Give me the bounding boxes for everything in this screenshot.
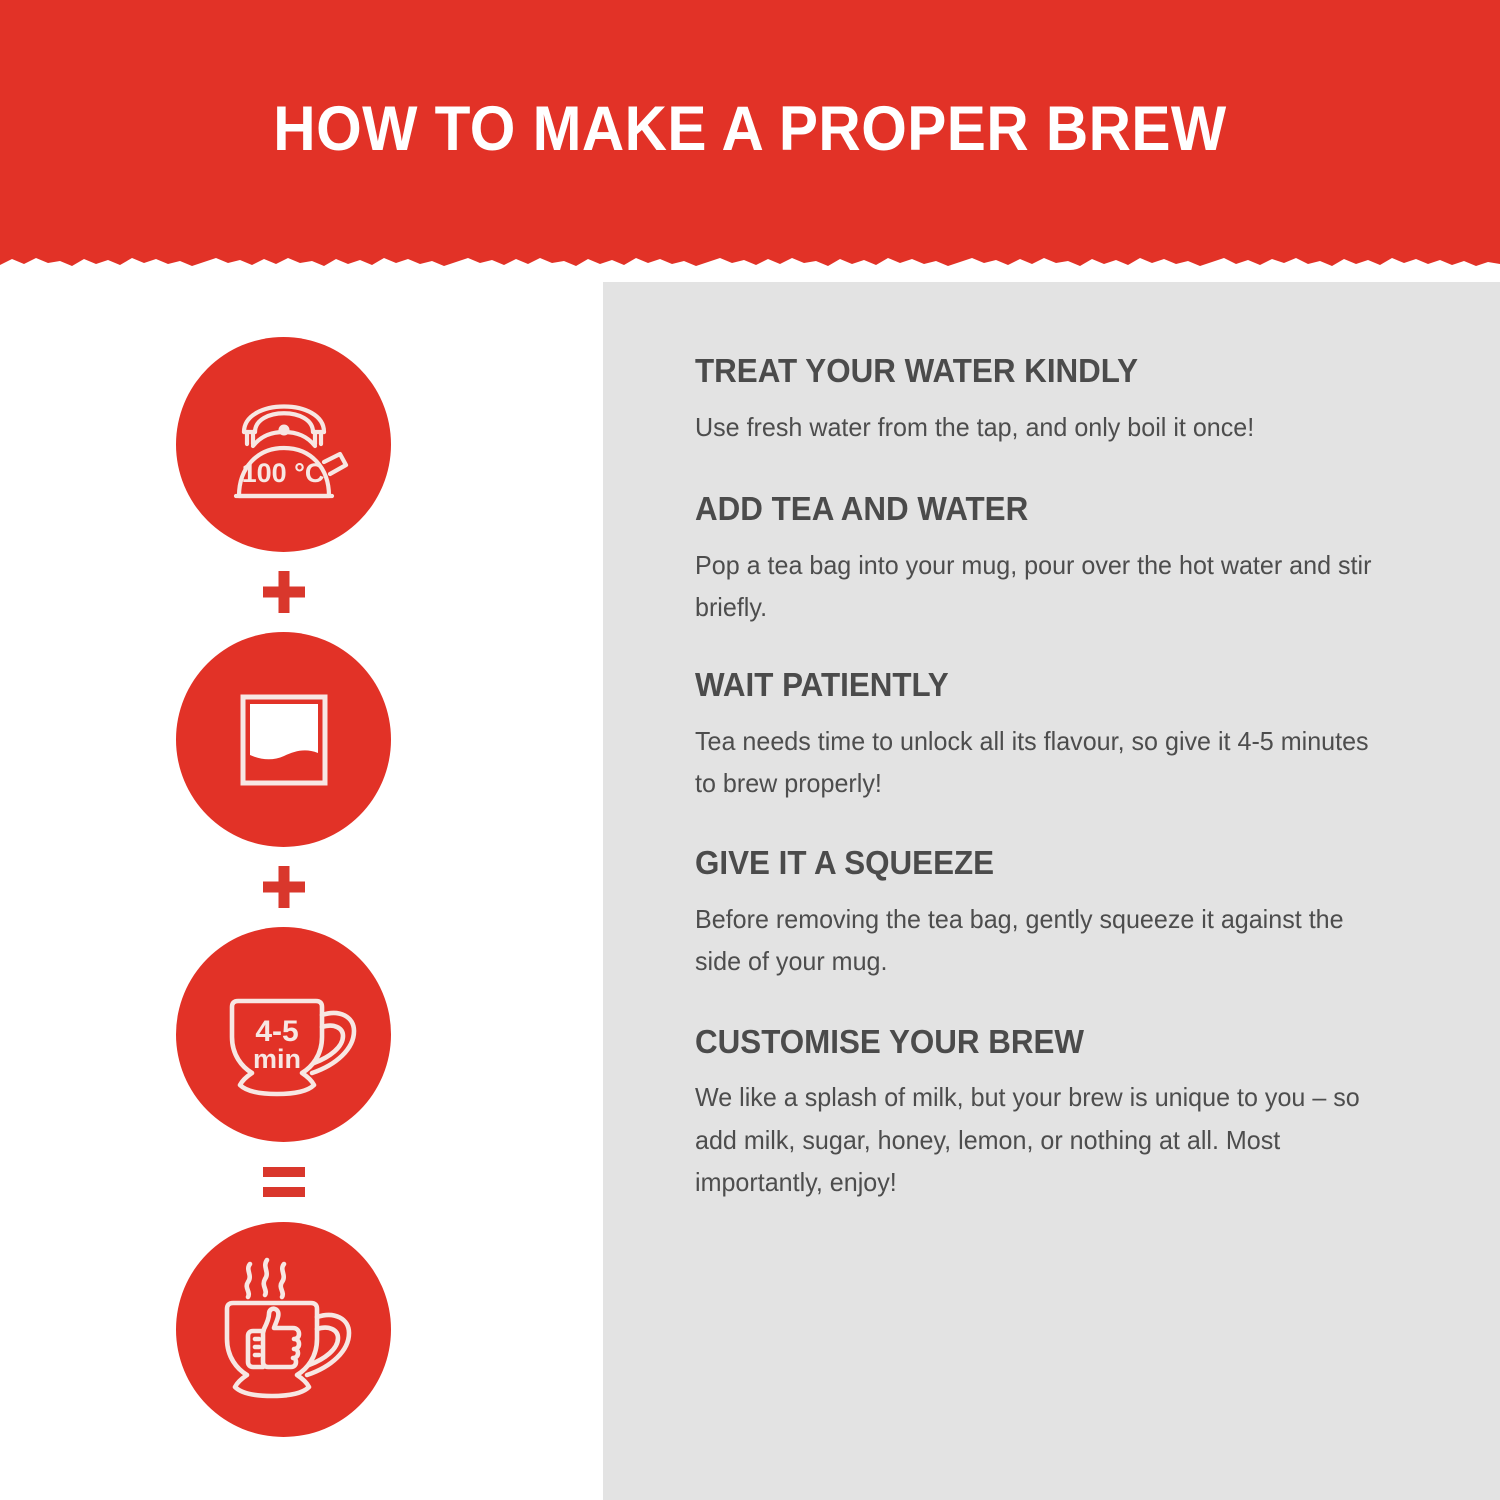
equals-icon [260, 1165, 308, 1199]
icon-circle-tea-bag [176, 632, 391, 847]
step-body: We like a splash of milk, but your brew … [695, 1076, 1386, 1202]
step-title: TREAT YOUR WATER KINDLY [695, 352, 1375, 390]
step-item: TREAT YOUR WATER KINDLY Use fresh water … [695, 352, 1411, 448]
plus-icon [260, 863, 308, 911]
kettle-icon: 100 °C [209, 370, 359, 520]
step-title: WAIT PATIENTLY [695, 666, 1375, 704]
step-title: CUSTOMISE YOUR BREW [695, 1023, 1375, 1061]
step-item: ADD TEA AND WATER Pop a tea bag into you… [695, 490, 1411, 628]
infographic-page: HOW TO MAKE A PROPER BREW [0, 0, 1500, 1500]
step-body: Before removing the tea bag, gently sque… [695, 898, 1386, 982]
step-title: GIVE IT A SQUEEZE [695, 844, 1375, 882]
steps-list: TREAT YOUR WATER KINDLY Use fresh water … [695, 352, 1411, 1203]
icon-circle-mug-timer: 4-5 min [176, 927, 391, 1142]
operator-plus-2 [176, 847, 391, 927]
step-item: WAIT PATIENTLY Tea needs time to unlock … [695, 666, 1411, 804]
step-item: GIVE IT A SQUEEZE Before removing the te… [695, 844, 1411, 982]
mug-thumbs-up-icon [201, 1247, 366, 1412]
mug-timer-label-line2: min [252, 1044, 300, 1074]
operator-plus-1 [176, 552, 391, 632]
icon-circle-mug-thumbs-up [176, 1222, 391, 1437]
plus-icon [260, 568, 308, 616]
step-item: CUSTOMISE YOUR BREW We like a splash of … [695, 1023, 1411, 1203]
step-body: Tea needs time to unlock all its flavour… [695, 720, 1386, 804]
kettle-temperature-label: 100 °C [241, 458, 324, 488]
step-body: Use fresh water from the tap, and only b… [695, 406, 1386, 448]
operator-equals [176, 1142, 391, 1222]
mug-timer-icon: 4-5 min [204, 955, 364, 1115]
header-banner: HOW TO MAKE A PROPER BREW [0, 0, 1500, 288]
tea-bag-icon [209, 665, 359, 815]
icon-circle-kettle: 100 °C [176, 337, 391, 552]
step-body: Pop a tea bag into your mug, pour over t… [695, 544, 1386, 628]
step-title: ADD TEA AND WATER [695, 490, 1375, 528]
icon-column: 100 °C [176, 337, 391, 1437]
page-title: HOW TO MAKE A PROPER BREW [53, 0, 1448, 258]
